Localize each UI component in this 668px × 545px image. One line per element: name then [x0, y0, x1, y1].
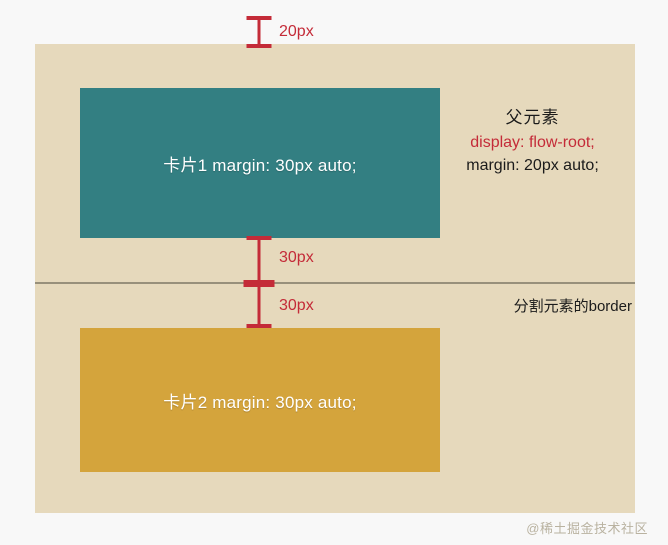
- parent-note-title: 父元素: [435, 106, 630, 131]
- divider-border-label: 分割元素的border: [427, 295, 632, 316]
- card-1-label: 卡片1 margin: 30px auto;: [163, 151, 356, 176]
- measure-cap-icon: [243, 280, 274, 287]
- measure-cap-icon: [246, 324, 271, 328]
- parent-element-box: 卡片1 margin: 30px auto; 卡片2 margin: 30px …: [35, 44, 635, 513]
- divider-border-line: [35, 282, 635, 284]
- measure-label-gap-below-border: 30px: [279, 297, 314, 315]
- card-1: 卡片1 margin: 30px auto;: [80, 88, 440, 238]
- measure-label-top-gap: 20px: [279, 23, 314, 41]
- parent-element-annotation: 父元素 display: flow-root; margin: 20px aut…: [435, 106, 630, 177]
- measure-label-gap-above-border: 30px: [279, 249, 314, 267]
- card-2-label: 卡片2 margin: 30px auto;: [163, 388, 356, 413]
- measure-marker-top: [246, 16, 271, 48]
- parent-note-display: display: flow-root;: [435, 131, 630, 154]
- measure-cap-icon: [246, 44, 271, 48]
- parent-note-margin: margin: 20px auto;: [435, 154, 630, 177]
- measure-marker-middle: [243, 236, 274, 328]
- diagram-canvas: 卡片1 margin: 30px auto; 卡片2 margin: 30px …: [0, 0, 668, 545]
- measure-stem-icon: [257, 19, 260, 45]
- card-2: 卡片2 margin: 30px auto;: [80, 328, 440, 472]
- watermark: @稀土掘金技术社区: [526, 518, 648, 537]
